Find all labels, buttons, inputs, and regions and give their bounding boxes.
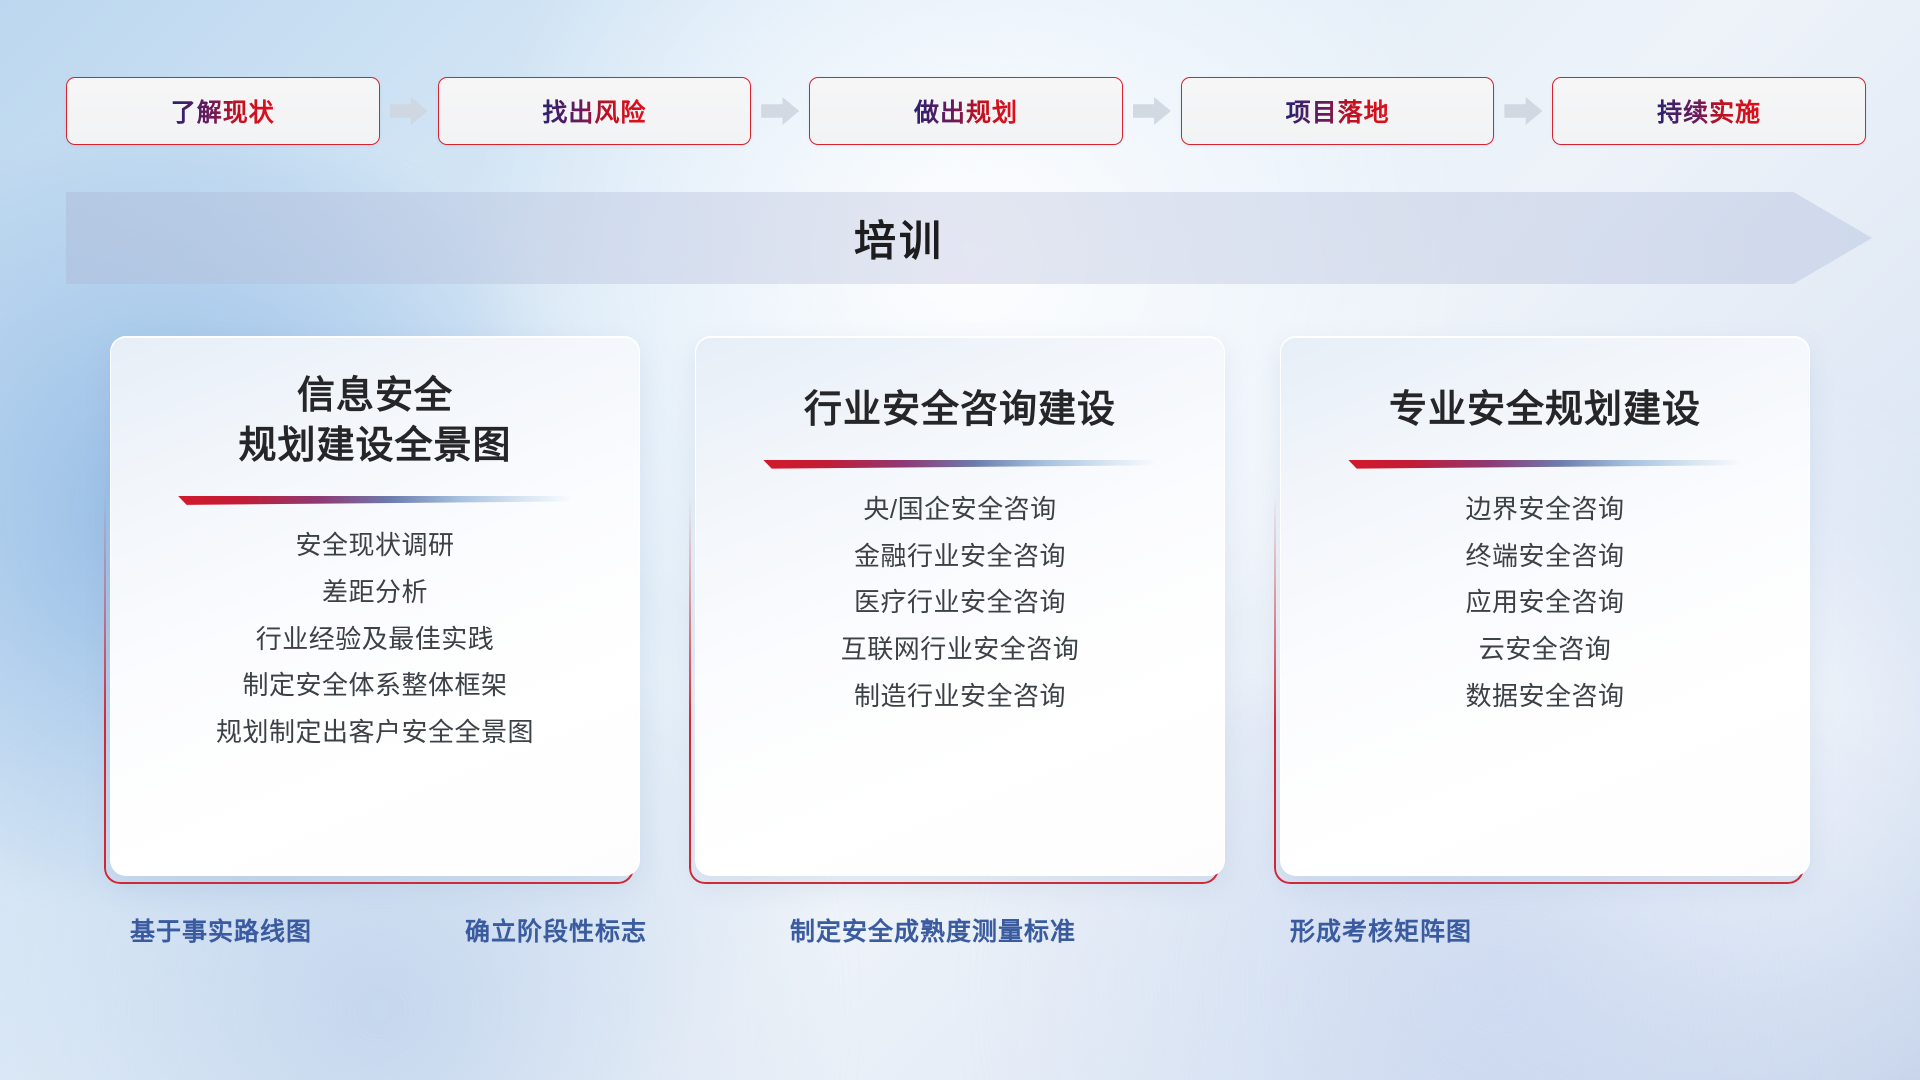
- card-divider-slot: [137, 471, 613, 529]
- step-item-1[interactable]: 了解现状: [66, 77, 380, 145]
- gradient-divider: [763, 460, 1157, 469]
- card-title-line-1: 专业安全规划建设: [1389, 385, 1701, 435]
- card-title-line-2: 规划建设全景图: [238, 421, 511, 471]
- list-item: 边界安全咨询: [1307, 495, 1783, 524]
- chevron-right-icon: [1133, 97, 1171, 125]
- chevron-right-icon: [1504, 97, 1542, 125]
- list-item: 应用安全咨询: [1307, 588, 1783, 617]
- training-banner: 培训: [66, 192, 1872, 284]
- footnote-label: 制定安全成熟度测量标准: [790, 912, 1076, 948]
- step-item-5[interactable]: 持续实施: [1552, 77, 1866, 145]
- chevron-right-icon: [761, 97, 799, 125]
- card-row: 信息安全 规划建设全景图 安全现状调研 差距分析 行业经验及最佳实践 制定安全体…: [110, 336, 1810, 876]
- footnote-label: 基于事实路线图: [130, 912, 312, 948]
- card-industry-security-consulting[interactable]: 行业安全咨询建设 央/国企安全咨询 金融行业安全咨询 医疗行业安全咨询 互联网行…: [695, 336, 1225, 876]
- card-professional-security-planning[interactable]: 专业安全规划建设 边界安全咨询 终端安全咨询 应用安全咨询 云安全咨询 数据安全…: [1280, 336, 1810, 876]
- card-wrapper-3: 专业安全规划建设 边界安全咨询 终端安全咨询 应用安全咨询 云安全咨询 数据安全…: [1280, 336, 1810, 876]
- gradient-divider: [178, 496, 572, 505]
- card-divider-slot: [722, 435, 1198, 493]
- card-item-list: 边界安全咨询 终端安全咨询 应用安全咨询 云安全咨询 数据安全咨询: [1307, 495, 1783, 710]
- card-wrapper-1: 信息安全 规划建设全景图 安全现状调研 差距分析 行业经验及最佳实践 制定安全体…: [110, 336, 640, 876]
- card-information-security-blueprint[interactable]: 信息安全 规划建设全景图 安全现状调研 差距分析 行业经验及最佳实践 制定安全体…: [110, 336, 640, 876]
- footnote-label: 确立阶段性标志: [465, 912, 647, 948]
- step-separator-3: [1123, 91, 1181, 131]
- card-title: 行业安全咨询建设: [804, 385, 1116, 435]
- list-item: 规划制定出客户安全全景图: [137, 718, 613, 747]
- list-item: 医疗行业安全咨询: [722, 588, 1198, 617]
- footnote-label: 形成考核矩阵图: [1290, 912, 1472, 948]
- gradient-divider: [1348, 460, 1742, 469]
- list-item: 终端安全咨询: [1307, 542, 1783, 571]
- card-wrapper-2: 行业安全咨询建设 央/国企安全咨询 金融行业安全咨询 医疗行业安全咨询 互联网行…: [695, 336, 1225, 876]
- card-item-list: 安全现状调研 差距分析 行业经验及最佳实践 制定安全体系整体框架 规划制定出客户…: [137, 531, 613, 746]
- card-title-line-1: 行业安全咨询建设: [804, 385, 1116, 435]
- banner-title: 培训: [66, 208, 1872, 269]
- card-title: 专业安全规划建设: [1389, 385, 1701, 435]
- card-title-line-1: 信息安全: [238, 371, 511, 421]
- list-item: 安全现状调研: [137, 531, 613, 560]
- step-separator-4: [1494, 91, 1552, 131]
- card-divider-slot: [1307, 435, 1783, 493]
- step-separator-1: [380, 91, 438, 131]
- step-label: 持续实施: [1657, 93, 1761, 129]
- chevron-right-icon: [390, 97, 428, 125]
- process-step-strip: 了解现状 找出风险 做出规划 项目落地 持续实施: [66, 77, 1866, 145]
- step-item-4[interactable]: 项目落地: [1181, 77, 1495, 145]
- footnote-row: 基于事实路线图 确立阶段性标志 制定安全成熟度测量标准 形成考核矩阵图: [0, 912, 1920, 956]
- list-item: 差距分析: [137, 578, 613, 607]
- step-label: 项目落地: [1286, 93, 1390, 129]
- step-label: 了解现状: [171, 93, 275, 129]
- list-item: 制定安全体系整体框架: [137, 671, 613, 700]
- list-item: 互联网行业安全咨询: [722, 635, 1198, 664]
- list-item: 云安全咨询: [1307, 635, 1783, 664]
- card-title: 信息安全 规划建设全景图: [238, 371, 511, 471]
- slide-canvas: 了解现状 找出风险 做出规划 项目落地 持续实施 培训: [0, 0, 1920, 1080]
- step-item-3[interactable]: 做出规划: [809, 77, 1123, 145]
- list-item: 金融行业安全咨询: [722, 542, 1198, 571]
- step-label: 做出规划: [914, 93, 1018, 129]
- list-item: 数据安全咨询: [1307, 682, 1783, 711]
- card-item-list: 央/国企安全咨询 金融行业安全咨询 医疗行业安全咨询 互联网行业安全咨询 制造行…: [722, 495, 1198, 710]
- list-item: 央/国企安全咨询: [722, 495, 1198, 524]
- step-item-2[interactable]: 找出风险: [438, 77, 752, 145]
- step-label: 找出风险: [542, 93, 646, 129]
- list-item: 制造行业安全咨询: [722, 682, 1198, 711]
- step-separator-2: [751, 91, 809, 131]
- list-item: 行业经验及最佳实践: [137, 625, 613, 654]
